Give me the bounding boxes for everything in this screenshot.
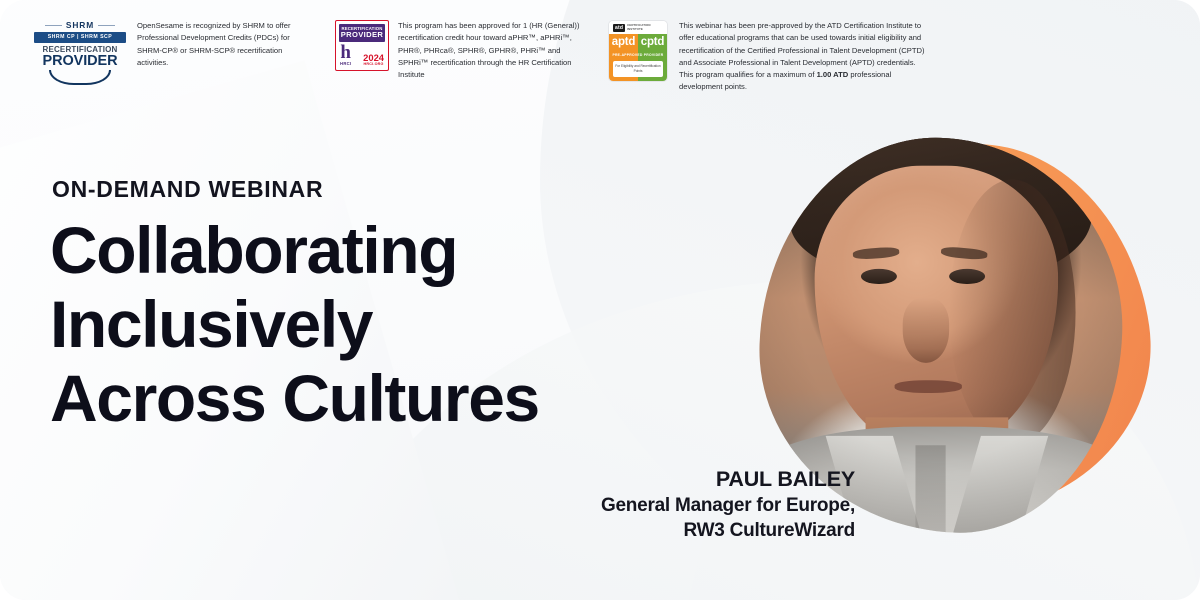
atd-badge-head: atd CERTIFICATION INSTITUTE <box>609 21 667 34</box>
shrm-org-label: SHRM <box>66 20 94 30</box>
shrm-credential-bar: SHRM CP | SHRM SCP <box>34 32 126 43</box>
atd-credentials-row: aptd cptd <box>609 34 667 51</box>
shrm-rule-left <box>45 25 62 26</box>
shrm-badge-top: SHRM <box>34 20 126 30</box>
speaker-credit: PAUL BAILEY General Manager for Europe, … <box>515 466 855 543</box>
speaker-role-line-1: General Manager for Europe, <box>515 493 855 518</box>
hrci-mark: h HRCI <box>340 45 351 66</box>
hrci-year-block: 2024 HRCI.ORG <box>363 53 384 66</box>
hrci-year: 2024 <box>363 53 384 62</box>
shrm-recertification-provider-badge: SHRM SHRM CP | SHRM SCP RECERTIFICATION … <box>34 20 126 85</box>
accreditation-strip: SHRM SHRM CP | SHRM SCP RECERTIFICATION … <box>34 20 931 94</box>
page-title: Collaborating Inclusively Across Culture… <box>50 214 690 436</box>
atd-description-points: 1.00 ATD <box>817 70 849 79</box>
atd-certification-institute-badge: atd CERTIFICATION INSTITUTE aptd cptd PR… <box>608 20 668 82</box>
hrci-h-logo-icon: h <box>340 45 351 61</box>
shrm-provider-label: PROVIDER <box>34 54 126 69</box>
hrci-provider-label: PROVIDER <box>340 31 384 39</box>
hrci-recertification-provider-badge: RECERTIFICATION PROVIDER h HRCI 2024 HRC… <box>335 20 389 71</box>
webinar-promo-canvas: SHRM SHRM CP | SHRM SCP RECERTIFICATION … <box>0 0 1200 600</box>
atd-footer-text: For Eligibility and Recertification Poin… <box>613 61 663 77</box>
hrci-url: HRCI.ORG <box>363 62 384 66</box>
hrci-mark-label: HRCI <box>340 61 351 66</box>
shrm-description: OpenSesame is recognized by SHRM to offe… <box>137 20 313 69</box>
atd-badge-footer: For Eligibility and Recertification Poin… <box>609 59 667 81</box>
page-title-line-2: Inclusively <box>50 288 690 362</box>
page-title-line-3: Across Cultures <box>50 362 690 436</box>
shrm-rule-right <box>98 25 115 26</box>
hrci-badge-bar: RECERTIFICATION PROVIDER <box>339 24 385 42</box>
hrci-description: This program has been approved for 1 (HR… <box>398 20 586 81</box>
speaker-role-line-2: RW3 CultureWizard <box>515 518 855 543</box>
shrm-shield-icon <box>49 70 111 85</box>
accreditation-item-shrm: SHRM SHRM CP | SHRM SCP RECERTIFICATION … <box>34 20 313 85</box>
hrci-badge-body: h HRCI 2024 HRCI.ORG <box>339 45 385 66</box>
atd-institute-label: CERTIFICATION INSTITUTE <box>627 24 664 31</box>
accreditation-item-atd: atd CERTIFICATION INSTITUTE aptd cptd PR… <box>608 20 931 94</box>
atd-preapproved-banner: PRE-APPROVED PROVIDER <box>609 51 667 59</box>
atd-logo-icon: atd <box>613 24 625 32</box>
atd-description: This webinar has been pre-approved by th… <box>679 20 931 94</box>
speaker-name: PAUL BAILEY <box>515 466 855 493</box>
atd-cptd-label: cptd <box>638 34 667 51</box>
page-title-line-1: Collaborating <box>50 214 690 288</box>
atd-aptd-label: aptd <box>609 34 638 51</box>
page-eyebrow: ON-DEMAND WEBINAR <box>52 176 323 203</box>
accreditation-item-hrci: RECERTIFICATION PROVIDER h HRCI 2024 HRC… <box>335 20 586 81</box>
